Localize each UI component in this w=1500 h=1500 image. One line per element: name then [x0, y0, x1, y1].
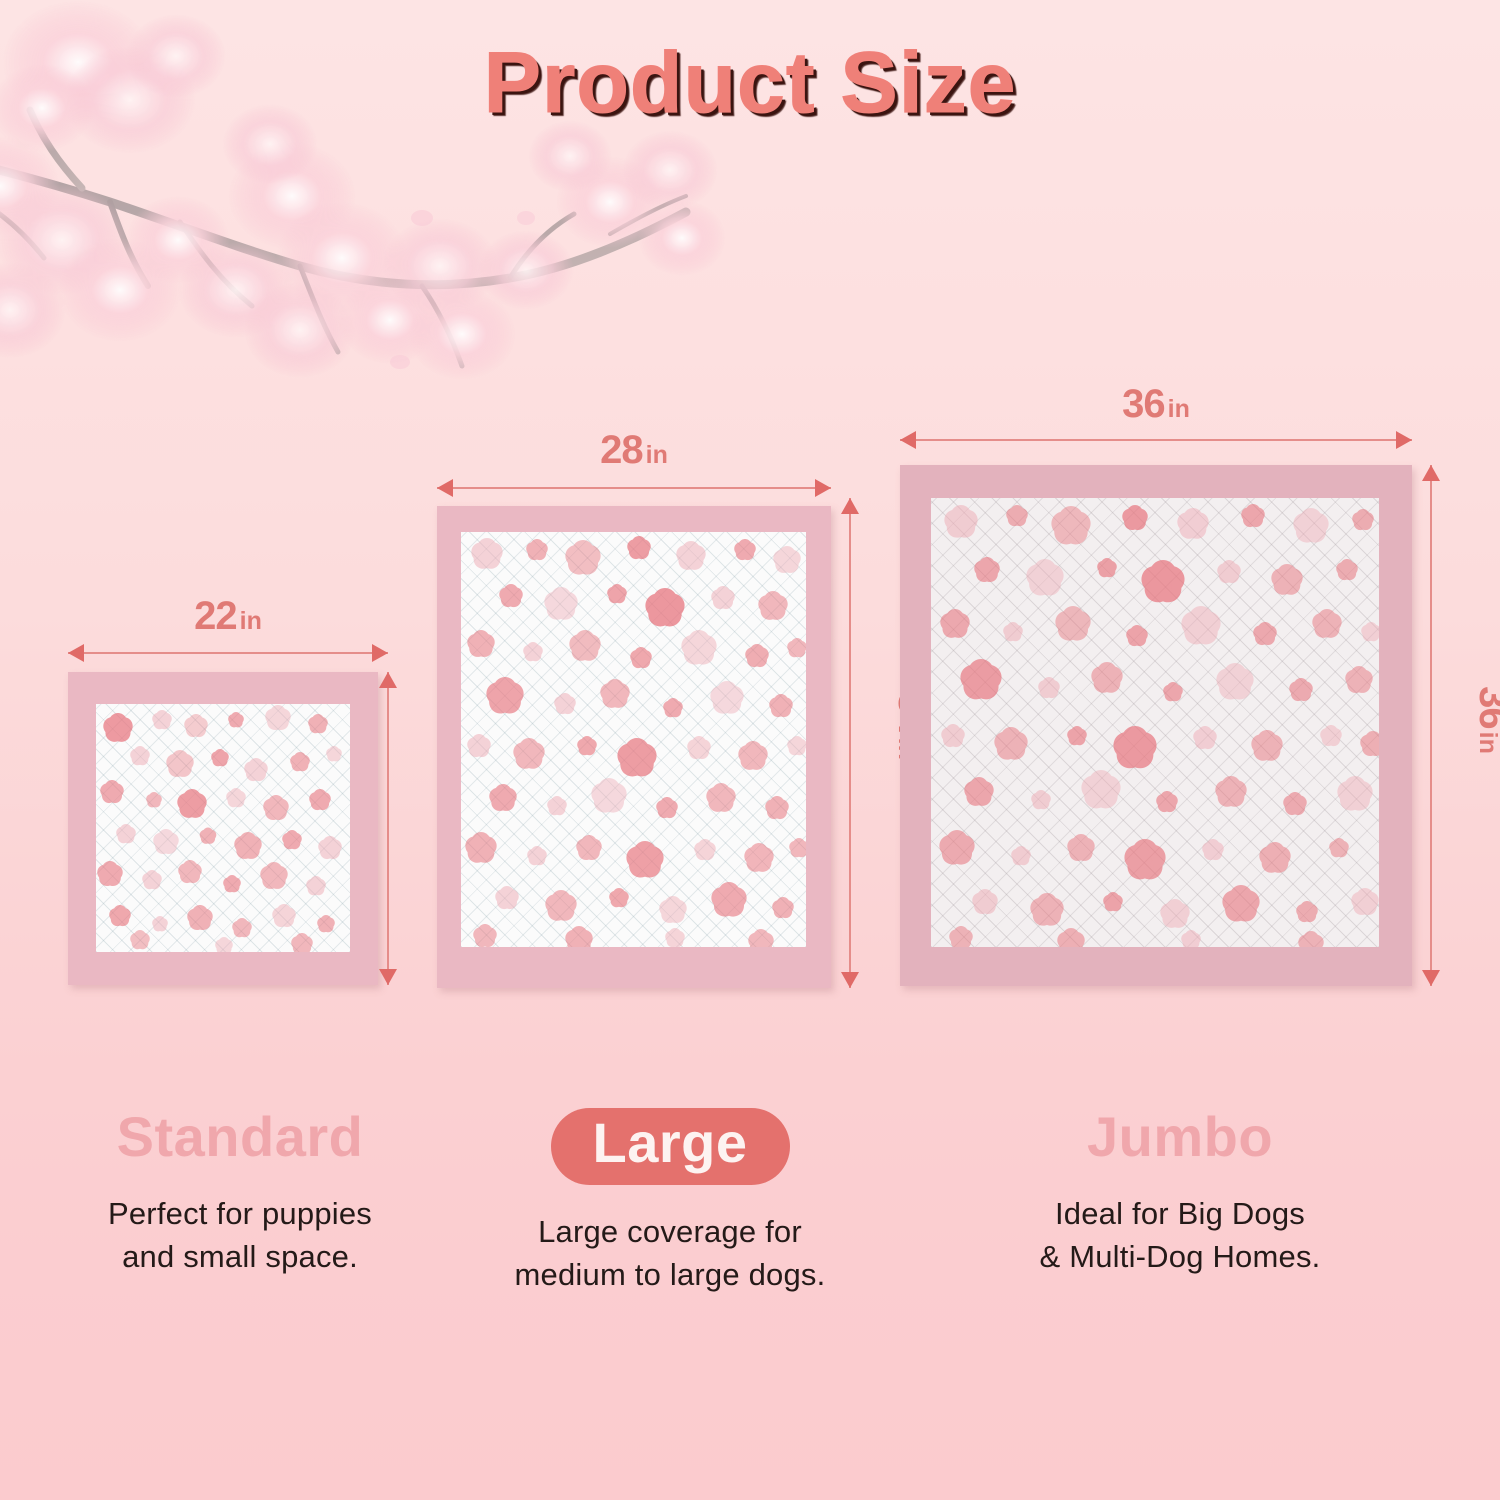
caption-standard: Standard Perfect for puppies and small s… [40, 1108, 440, 1278]
large-height-arrow [840, 498, 860, 988]
pad-jumbo [900, 465, 1412, 986]
sakura-pattern-large [461, 532, 806, 947]
jumbo-width-label: 36in [900, 384, 1412, 424]
large-width-arrow [437, 478, 831, 498]
standard-width-arrow [68, 643, 388, 663]
jumbo-height-label: 36in [1473, 670, 1500, 770]
size-description-jumbo: Ideal for Big Dogs & Multi-Dog Homes. [980, 1193, 1380, 1279]
size-name-large: Large [551, 1108, 790, 1185]
jumbo-width-arrow [900, 430, 1412, 450]
jumbo-height-arrow [1421, 465, 1441, 986]
standard-width-label: 22in [68, 596, 388, 636]
size-description-large: Large coverage for medium to large dogs. [470, 1211, 870, 1297]
size-name-jumbo: Jumbo [980, 1108, 1380, 1167]
page-title: Product Size [0, 34, 1500, 133]
pad-standard [68, 672, 378, 985]
pad-large [437, 506, 831, 988]
product-size-infographic: Product Size 22in [0, 0, 1500, 1500]
large-width-label: 28in [437, 430, 831, 470]
size-name-standard: Standard [40, 1108, 440, 1167]
caption-jumbo: Jumbo Ideal for Big Dogs & Multi-Dog Hom… [980, 1108, 1380, 1278]
standard-height-arrow [378, 672, 398, 985]
sakura-pattern-standard [96, 704, 350, 952]
size-description-standard: Perfect for puppies and small space. [40, 1193, 440, 1279]
caption-large: Large Large coverage for medium to large… [470, 1108, 870, 1296]
sakura-pattern-jumbo [931, 498, 1379, 947]
